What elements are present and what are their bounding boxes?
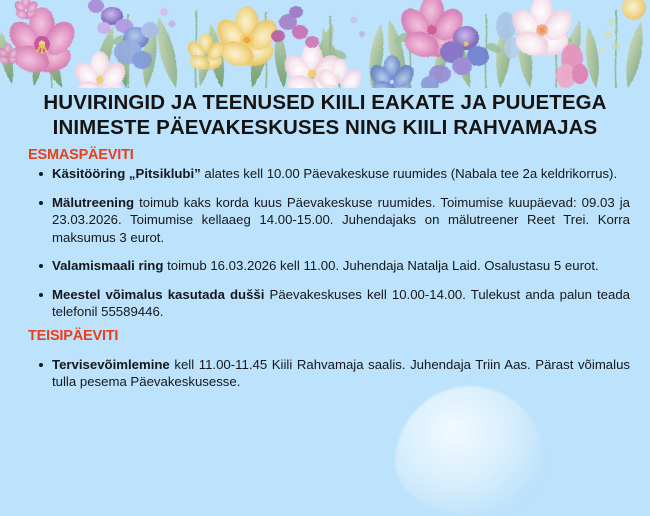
poster-content: HUVIRINGID JA TEENUSED KIILI EAKATE JA P…: [0, 88, 650, 391]
event-title: Meestel võimalus kasutada dušši: [52, 287, 264, 302]
event-title: Käsitööring „Pitsiklubi”: [52, 166, 201, 181]
event-list-tuesday: Tervisevõimlemine kell 11.00-11.45 Kiili…: [0, 346, 650, 391]
event-title: Tervisevõimlemine: [52, 357, 170, 372]
event-details: alates kell 10.00 Päevakeskuse ruumides …: [201, 166, 617, 181]
floral-banner-artwork: [0, 0, 650, 88]
event-title: Mälutreening: [52, 195, 134, 210]
day-heading-monday: ESMASPÄEVITI: [0, 140, 650, 165]
event-list-monday: Käsitööring „Pitsiklubi” alates kell 10.…: [0, 165, 650, 321]
event-details: toimub 16.03.2026 kell 11.00. Juhendaja …: [163, 258, 598, 273]
event-details: toimub kaks korda kuus Päevakeskuse ruum…: [52, 195, 630, 245]
list-item: Mälutreening toimub kaks korda kuus Päev…: [0, 194, 650, 247]
list-item: Valamismaali ring toimub 16.03.2026 kell…: [0, 257, 650, 275]
day-heading-tuesday: TEISIPÄEVITI: [0, 321, 650, 346]
background-watermark-blob: [395, 386, 545, 516]
list-item: Käsitööring „Pitsiklubi” alates kell 10.…: [0, 165, 650, 183]
floral-banner: [0, 0, 650, 88]
page-title: HUVIRINGID JA TEENUSED KIILI EAKATE JA P…: [0, 88, 650, 140]
event-title: Valamismaali ring: [52, 258, 163, 273]
list-item: Tervisevõimlemine kell 11.00-11.45 Kiili…: [0, 356, 650, 391]
list-item: Meestel võimalus kasutada dušši Päevakes…: [0, 286, 650, 321]
